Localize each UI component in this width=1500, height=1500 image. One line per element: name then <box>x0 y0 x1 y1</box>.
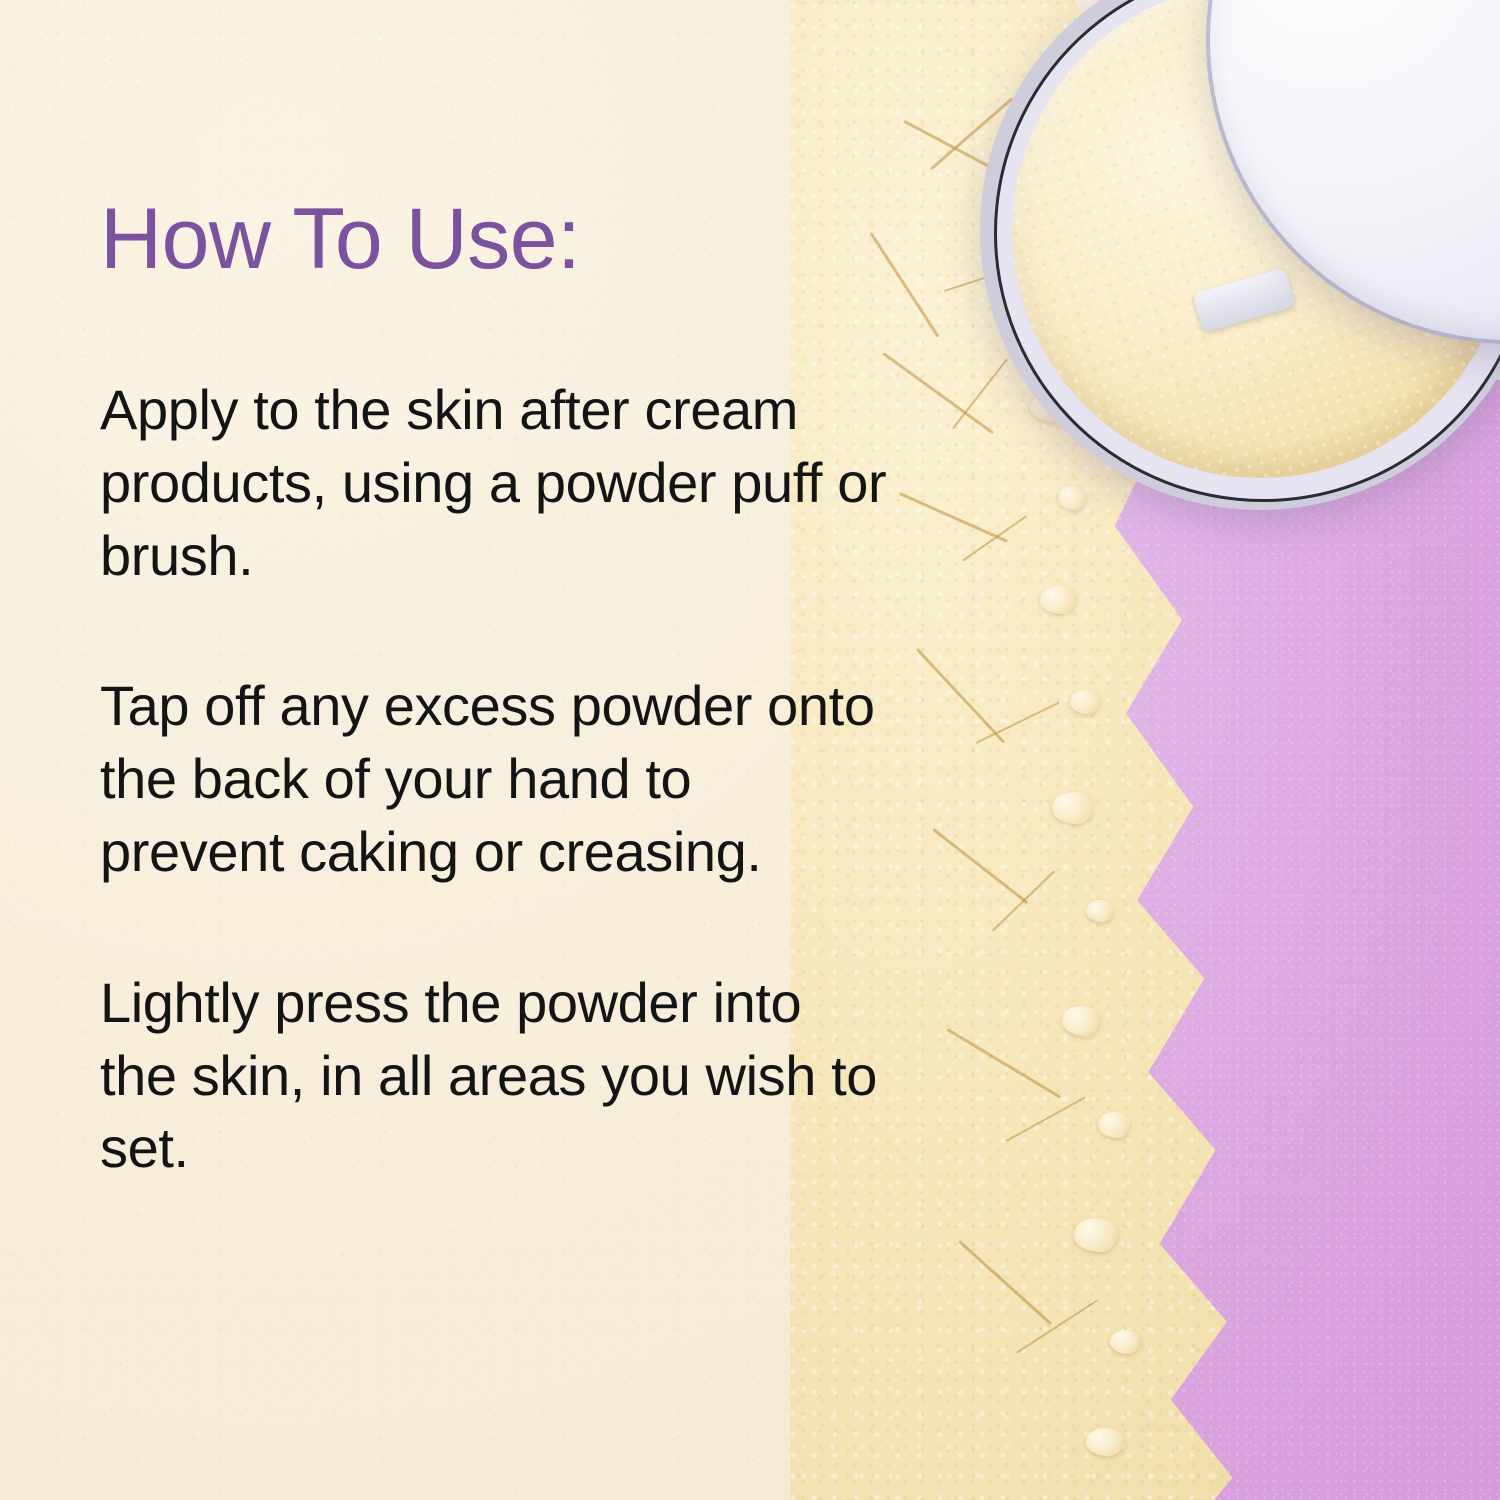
page-title: How To Use: <box>100 196 900 282</box>
step-1-text: Apply to the skin after cream products, … <box>100 374 890 592</box>
lid-product-line: PORE BLURRING PRESSED POWD <box>1190 0 1500 9</box>
powder-crumb <box>1052 792 1094 824</box>
instructions-panel: How To Use: Apply to the skin after crea… <box>100 196 900 1185</box>
step-2-text: Tap off any excess powder onto the back … <box>100 670 890 888</box>
powder-crumb <box>1074 1218 1118 1252</box>
compact-icon: pore p PORE BLURRING PRESSED POWD poudre… <box>960 0 1500 760</box>
step-3-text: Lightly press the powder into the skin, … <box>100 967 890 1185</box>
powder-crumb <box>1062 1006 1100 1036</box>
powder-crumb <box>1110 1330 1140 1354</box>
powder-crumb <box>1086 1428 1124 1456</box>
powder-crumb <box>1086 900 1114 922</box>
marketing-image-canvas: pore p PORE BLURRING PRESSED POWD poudre… <box>0 0 1500 1500</box>
powder-crumb <box>1098 1112 1130 1138</box>
